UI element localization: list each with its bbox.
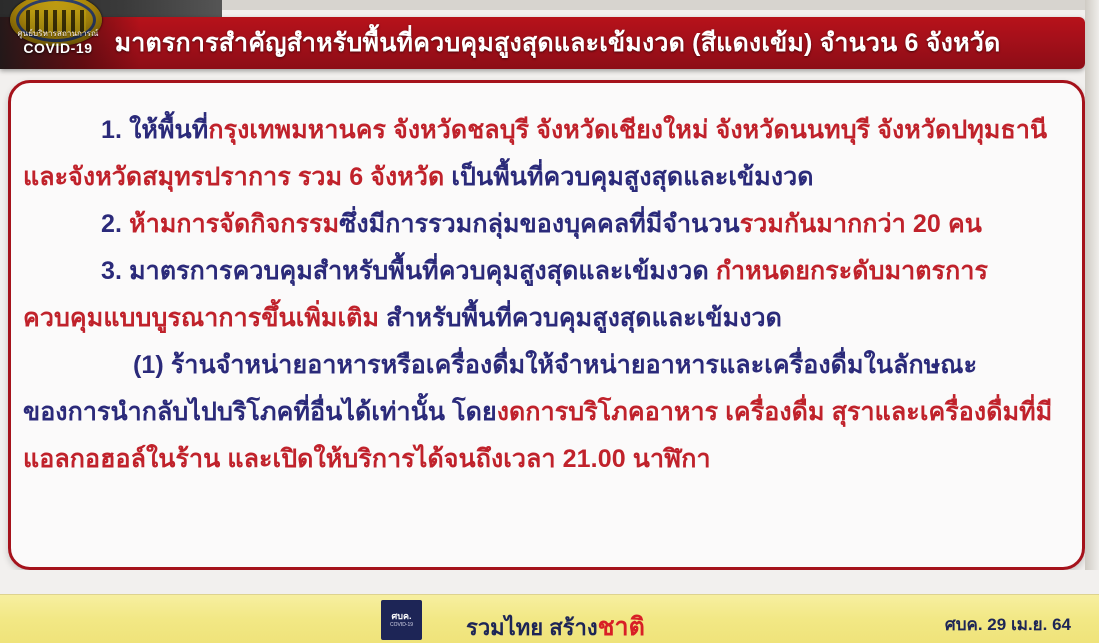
right-edge-sliver [1085, 0, 1099, 594]
bottom-gap-strip [0, 570, 1099, 594]
footer-slogan-prefix: รวมไทย สร้าง [466, 615, 598, 640]
line-2-segment-2: เป็นพื้นที่ควบคุมสูงสุดและเข้มงวด [451, 163, 813, 191]
line-3-segment-4: รวมกันมากกว่า 20 คน [740, 210, 982, 238]
line-3-segment-3: ซึ่งมีการรวมกลุ่มของบุคคลที่มีจำนวน [339, 210, 739, 238]
line-1-segment-1: 1. ให้พื้นที่ [101, 116, 208, 144]
line-8-segment-1: แอลกอฮอล์ในร้าน และเปิดให้บริการได้จนถึง… [23, 445, 711, 473]
line-3-segment-2: ห้ามการจัดกิจกรรม [129, 210, 339, 238]
line-7-segment-1: ของการนำกลับไปบริโภคที่อื่นได้เท่านั้น โ… [23, 398, 497, 426]
top-edge-strip [222, 0, 1099, 10]
covid-thai-label: ศูนย์บริหารสถานการณ์ [2, 30, 114, 38]
ccsa-logo: ศูนย์บริหารสถานการณ์ COVID-19 [2, 0, 112, 70]
line-4-segment-1: 3. มาตรการควบคุมสำหรับพื้นที่ควบคุมสูงสุ… [101, 257, 716, 285]
footer-slogan: รวมไทย สร้างชาติ [466, 607, 645, 643]
ccsa-footer-logo-icon: ศบค. COVID-19 [381, 600, 422, 640]
slide-screen: มาตรการสำคัญสำหรับพื้นที่ควบคุมสูงสุดและ… [0, 0, 1099, 643]
line-1-segment-2: กรุงเทพมหานคร จังหวัดชลบุรี จังหวัดเชียง… [208, 116, 1047, 144]
covid-logo-text: ศูนย์บริหารสถานการณ์ COVID-19 [2, 30, 114, 64]
content-line-4: 3. มาตรการควบคุมสำหรับพื้นที่ควบคุมสูงสุ… [23, 248, 1066, 295]
content-line-7: ของการนำกลับไปบริโภคที่อื่นได้เท่านั้น โ… [23, 389, 1066, 436]
footer-logo-bottom-label: COVID-19 [390, 623, 413, 628]
line-5-segment-2: สำหรับพื้นที่ควบคุมสูงสุดและเข้มงวด [386, 304, 782, 332]
footer-date: ศบค. 29 เม.ย. 64 [945, 611, 1071, 638]
content-line-6: (1) ร้านจำหน่ายอาหารหรือเครื่องดื่มให้จำ… [23, 342, 1066, 389]
footer-bar: ศบค. COVID-19 รวมไทย สร้างชาติ ศบค. 29 เ… [0, 594, 1099, 643]
line-7-segment-2: งดการบริโภคอาหาร เครื่องดื่ม สุราและเครื… [497, 398, 1053, 426]
line-4-segment-2: กำหนดยกระดับมาตรการ [716, 257, 988, 285]
line-6-segment-1: (1) ร้านจำหน่ายอาหารหรือเครื่องดื่มให้จำ… [133, 351, 977, 379]
page-title: มาตรการสำคัญสำหรับพื้นที่ควบคุมสูงสุดและ… [85, 23, 1001, 63]
footer-logo-top-label: ศบค. [392, 612, 412, 621]
footer-slogan-highlight: ชาติ [598, 613, 645, 641]
line-5-segment-1: ควบคุมแบบบูรณาการขึ้นเพิ่มเติม [23, 304, 386, 332]
header-banner: มาตรการสำคัญสำหรับพื้นที่ควบคุมสูงสุดและ… [0, 17, 1085, 69]
content-line-8: แอลกอฮอล์ในร้าน และเปิดให้บริการได้จนถึง… [23, 436, 1066, 483]
content-line-5: ควบคุมแบบบูรณาการขึ้นเพิ่มเติม สำหรับพื้… [23, 295, 1066, 342]
content-line-1: 1. ให้พื้นที่กรุงเทพมหานคร จังหวัดชลบุรี… [23, 107, 1066, 154]
content-line-3: 2. ห้ามการจัดกิจกรรมซึ่งมีการรวมกลุ่มของ… [23, 201, 1066, 248]
line-2-segment-1: และจังหวัดสมุทรปราการ รวม 6 จังหวัด [23, 163, 451, 191]
content-lines: 1. ให้พื้นที่กรุงเทพมหานคร จังหวัดชลบุรี… [11, 83, 1082, 483]
covid-en-label: COVID-19 [2, 41, 114, 55]
line-3-segment-1: 2. [101, 210, 129, 238]
content-line-2: และจังหวัดสมุทรปราการ รวม 6 จังหวัด เป็น… [23, 154, 1066, 201]
content-card: 1. ให้พื้นที่กรุงเทพมหานคร จังหวัดชลบุรี… [8, 80, 1085, 570]
